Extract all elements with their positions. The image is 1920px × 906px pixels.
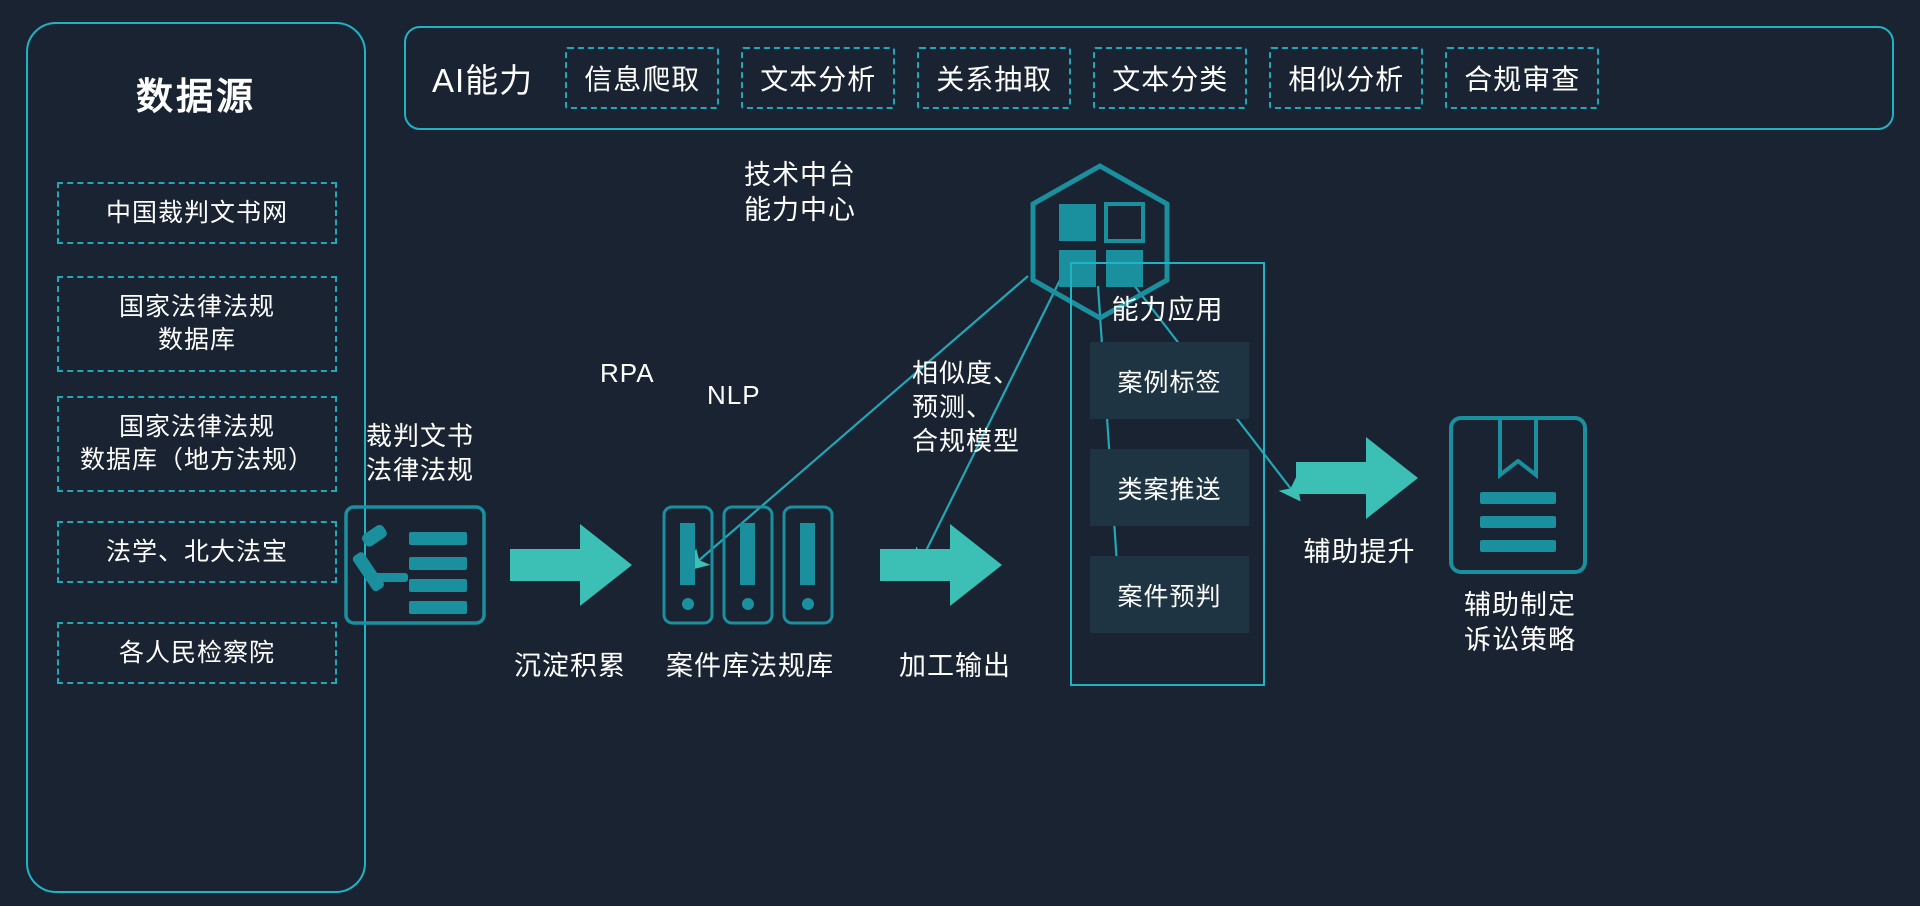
capability-application-panel: 能力应用 案例标签 类案推送 案件预判 [1070, 262, 1265, 686]
capability-item[interactable]: 类案推送 [1090, 449, 1249, 526]
caption-accumulate: 沉淀积累 [490, 644, 650, 683]
ai-capability-bar: AI能力 信息爬取 文本分析 关系抽取 文本分类 相似分析 合规审查 [404, 26, 1894, 130]
source-document-label: 裁判文书法律法规 [330, 420, 510, 488]
ai-capability-chip[interactable]: 合规审查 [1445, 47, 1599, 109]
data-source-title: 数据源 [28, 66, 364, 120]
edge-label-similarity: 相似度、预测、合规模型 [912, 357, 1020, 458]
caption-boost: 辅助提升 [1287, 530, 1432, 569]
ai-capability-chip[interactable]: 信息爬取 [565, 47, 719, 109]
capability-item[interactable]: 案例标签 [1090, 342, 1249, 419]
data-source-item[interactable]: 法学、北大法宝 [57, 521, 337, 583]
data-source-item[interactable]: 中国裁判文书网 [57, 182, 337, 244]
caption-final-output: 辅助制定诉讼策略 [1420, 588, 1620, 658]
ai-capability-chip[interactable]: 文本分析 [741, 47, 895, 109]
edge-label-nlp: NLP [707, 379, 761, 413]
server-rack-icon [662, 505, 834, 625]
ai-capability-chip[interactable]: 相似分析 [1269, 47, 1423, 109]
edge-label-rpa: RPA [600, 357, 655, 391]
capability-item[interactable]: 案件预判 [1090, 556, 1249, 633]
data-source-panel: 数据源 中国裁判文书网 国家法律法规数据库 国家法律法规数据库（地方法规） 法学… [26, 22, 366, 893]
data-source-item[interactable]: 各人民检察院 [57, 622, 337, 684]
flow-arrow-boost [1296, 435, 1418, 521]
capability-panel-title: 能力应用 [1072, 288, 1263, 327]
ai-capability-chip[interactable]: 关系抽取 [917, 47, 1071, 109]
flow-arrow-accumulate [510, 522, 632, 608]
ai-capability-chip[interactable]: 文本分类 [1093, 47, 1247, 109]
data-source-item[interactable]: 国家法律法规数据库 [57, 276, 337, 372]
bookmark-document-icon [1448, 415, 1588, 575]
caption-output: 加工输出 [875, 644, 1035, 683]
gavel-document-icon [344, 505, 486, 625]
caption-repository: 案件库法规库 [655, 644, 845, 683]
data-source-item[interactable]: 国家法律法规数据库（地方法规） [57, 396, 337, 492]
flow-arrow-output [880, 522, 1002, 608]
tech-hub-label: 技术中台能力中心 [690, 158, 910, 228]
architecture-diagram: 数据源 中国裁判文书网 国家法律法规数据库 国家法律法规数据库（地方法规） 法学… [0, 0, 1920, 906]
ai-capability-title: AI能力 [432, 54, 533, 102]
